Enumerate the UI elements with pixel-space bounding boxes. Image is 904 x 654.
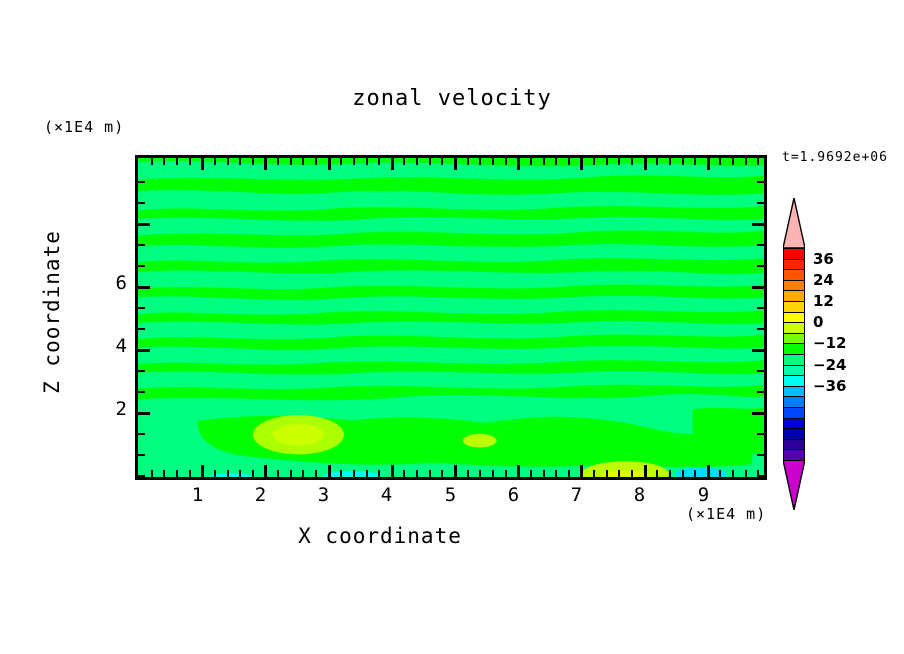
x-axis-title: X coordinate	[0, 524, 760, 548]
x-tick-label: 6	[508, 484, 520, 506]
colorbar[interactable]: 3624120−12−24−36	[783, 248, 805, 460]
colorbar-top-arrow-icon	[783, 198, 805, 248]
colorbar-tick-label: 12	[813, 292, 834, 310]
x-tick-label: 8	[634, 484, 646, 506]
x-tick-label: 7	[571, 484, 583, 506]
colorbar-tick-label: 0	[813, 313, 823, 331]
x-tick-label: 2	[255, 484, 267, 506]
colorbar-tick-label: −36	[813, 377, 846, 395]
colorbar-tick-label: 36	[813, 250, 834, 268]
colorbar-tick-label: −24	[813, 356, 846, 374]
x-tick-label: 3	[318, 484, 330, 506]
y-tick-label: 4	[100, 335, 128, 357]
y-axis-unit-label: (×1E4 m)	[44, 118, 124, 136]
chart-title: zonal velocity	[0, 86, 904, 111]
plot-canvas: zonal velocity (×1E4 m) t=1.9692e+06 Z c…	[0, 0, 904, 654]
colorbar-tick-label: −12	[813, 334, 846, 352]
x-tick-label: 5	[445, 484, 457, 506]
colorbar-band	[783, 449, 805, 461]
y-axis-title: Z coordinate	[40, 202, 64, 422]
time-annotation: t=1.9692e+06	[782, 150, 888, 165]
x-tick-label: 9	[698, 484, 710, 506]
colorbar-bottom-arrow-icon	[783, 460, 805, 510]
colorbar-tick-label: 24	[813, 271, 834, 289]
x-axis-unit-label: (×1E4 m)	[686, 505, 766, 523]
contour-field	[138, 158, 764, 477]
x-tick-label: 1	[192, 484, 204, 506]
y-tick-label: 6	[100, 272, 128, 294]
contour-plot-area	[135, 155, 767, 480]
x-tick-label: 4	[381, 484, 393, 506]
y-tick-label: 2	[100, 398, 128, 420]
